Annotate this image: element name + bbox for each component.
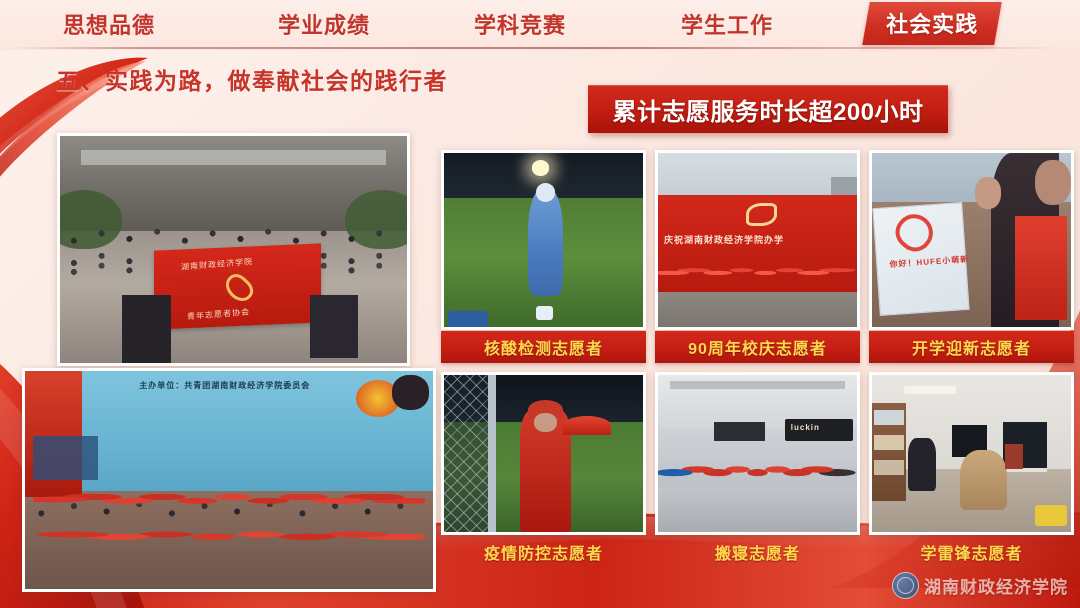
hero-banner-org-bottom: 青年志愿者协会 — [187, 306, 250, 322]
tab-label: 学科竞赛 — [474, 13, 566, 38]
wall-sponsor-text: 主办单位：共青团湖南财政经济学院委员会 — [139, 380, 310, 391]
hero-photo-volunteer-association[interactable]: 湖南财政经济学院 青年志愿者协会 — [57, 133, 410, 366]
gallery-caption-freshman-welcome: 开学迎新志愿者 — [869, 331, 1074, 363]
slide-canvas: 思想品德 学业成绩 学科竞赛 学生工作 社会实践 — [0, 0, 1080, 608]
anniversary-backdrop-text: 庆祝湖南财政经济学院办学 — [664, 233, 784, 246]
tab-label: 学业成绩 — [278, 13, 370, 38]
gallery-caption-learn-from-leifeng: 学雷锋志愿者 — [869, 536, 1074, 568]
volunteer-hours-banner: 累计志愿服务时长超200小时 — [588, 85, 948, 133]
gallery-caption-nucleic-acid-testing: 核酸检测志愿者 — [441, 331, 646, 363]
school-logo-watermark: 湖南财政经济学院 — [892, 570, 1068, 600]
tab-label: 社会实践 — [886, 7, 978, 39]
caption-text: 开学迎新志愿者 — [912, 335, 1031, 359]
caption-text: 搬寝志愿者 — [715, 540, 800, 564]
gallery-photo-nucleic-acid-testing[interactable] — [441, 150, 646, 330]
caption-text: 90周年校庆志愿者 — [688, 335, 827, 359]
gallery-caption-epidemic-prevention: 疫情防控志愿者 — [441, 536, 646, 568]
caption-text: 学雷锋志愿者 — [920, 540, 1022, 564]
tab-xueye-chengji[interactable]: 学业成绩 — [278, 8, 370, 40]
gallery-photo-learn-from-leifeng[interactable] — [869, 372, 1074, 535]
tab-shehui-shijian[interactable]: 社会实践 — [862, 2, 1002, 45]
tab-xueke-jingsai[interactable]: 学科竞赛 — [474, 8, 566, 40]
nav-tab-list: 思想品德 学业成绩 学科竞赛 学生工作 社会实践 — [0, 0, 1080, 47]
school-logo-text: 湖南财政经济学院 — [924, 573, 1068, 598]
caption-text: 疫情防控志愿者 — [484, 540, 603, 564]
section-title: 五、实践为路，做奉献社会的践行者 — [56, 62, 448, 96]
nav-divider — [10, 47, 1065, 49]
hero-banner-org-top: 湖南财政经济学院 — [180, 256, 252, 273]
dorm-store-sign-text: luckin — [791, 423, 820, 432]
gallery-photo-freshman-welcome[interactable]: 你好！HUFE小萌新 — [869, 150, 1074, 330]
tab-sixiang-pinde[interactable]: 思想品德 — [63, 8, 155, 40]
gallery-caption-anniversary-90: 90周年校庆志愿者 — [655, 331, 860, 363]
tab-xuesheng-gongzuo[interactable]: 学生工作 — [681, 8, 773, 40]
volunteer-hours-text: 累计志愿服务时长超200小时 — [612, 92, 923, 127]
tab-label: 学生工作 — [681, 13, 773, 38]
school-seal-icon — [892, 572, 919, 599]
gallery-photo-epidemic-prevention[interactable] — [441, 372, 646, 535]
caption-text: 核酸检测志愿者 — [484, 335, 603, 359]
gallery-caption-dorm-moving: 搬寝志愿者 — [655, 536, 860, 568]
gallery-photo-anniversary-90[interactable]: 庆祝湖南财政经济学院办学 — [655, 150, 860, 330]
welcome-sign-text: 你好！HUFE小萌新 — [889, 254, 969, 271]
signature-wall-photo[interactable]: 主办单位：共青团湖南财政经济学院委员会 — [22, 368, 436, 592]
gallery-photo-dorm-moving[interactable]: luckin — [655, 372, 860, 535]
tab-label: 思想品德 — [63, 13, 155, 38]
